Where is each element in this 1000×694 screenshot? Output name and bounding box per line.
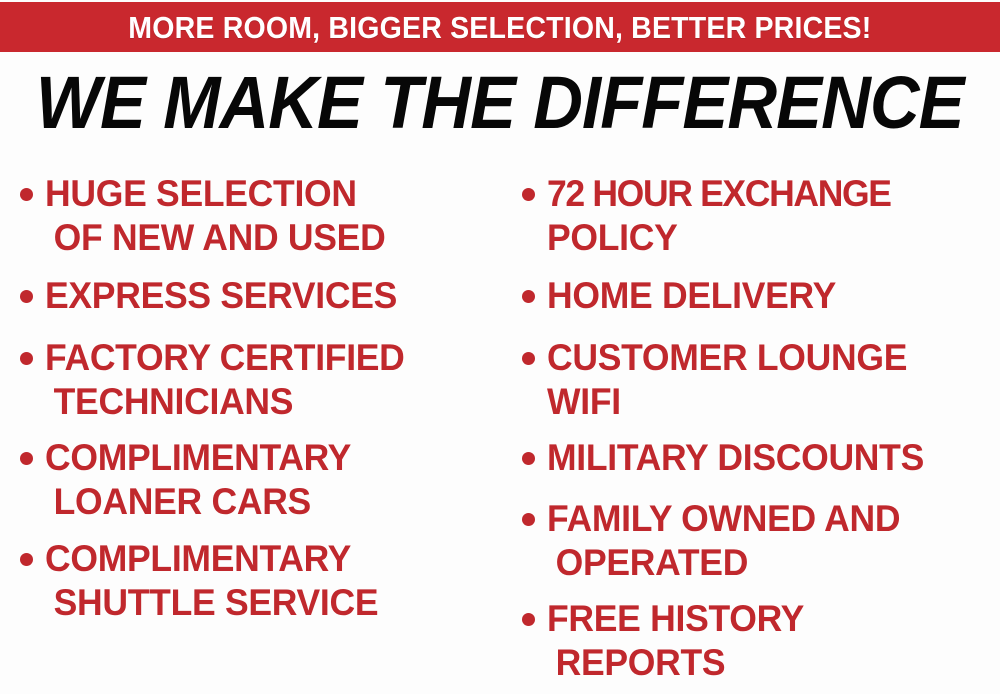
header-banner-text: MORE ROOM, BIGGER SELECTION, BETTER PRIC…: [128, 12, 871, 43]
bullet-dot-icon: [522, 188, 535, 201]
list-item-line-1: HUGE SELECTION: [45, 172, 385, 216]
list-item-text: HUGE SELECTION OF NEW AND USED: [45, 172, 400, 260]
bullet-dot-icon: [20, 290, 33, 303]
list-item-text: FREE HISTORY REPORTS: [547, 597, 815, 685]
list-item-line-2: LOANER CARS: [45, 480, 351, 524]
list-item-line-2: REPORTS: [547, 641, 804, 685]
list-item-line-2: WIFI: [547, 380, 907, 424]
list-item-line-2: SHUTTLE SERVICE: [45, 581, 378, 625]
list-item-text: COMPLIMENTARY SHUTTLE SERVICE: [45, 537, 392, 625]
list-item-text: 72 HOUR EXCHANGE POLICY: [547, 172, 905, 260]
list-item: COMPLIMENTARY SHUTTLE SERVICE: [8, 537, 392, 625]
bullet-dot-icon: [522, 290, 535, 303]
list-item-text: COMPLIMENTARY LOANER CARS: [45, 436, 364, 524]
list-item: CUSTOMER LOUNGE WIFI: [510, 336, 922, 424]
list-item: 72 HOUR EXCHANGE POLICY: [510, 172, 905, 260]
list-item-line-2: POLICY: [547, 216, 891, 260]
list-item-line-1: MILITARY DISCOUNTS: [547, 436, 924, 480]
list-item: FREE HISTORY REPORTS: [510, 597, 815, 685]
bullet-dot-icon: [20, 553, 33, 566]
list-item-text: FACTORY CERTIFIED TECHNICIANS: [45, 336, 420, 424]
benefits-column-right: 72 HOUR EXCHANGE POLICY HOME DELIVERY CU…: [510, 162, 1000, 694]
list-item: MILITARY DISCOUNTS: [510, 436, 940, 480]
list-item-line-1: FAMILY OWNED AND: [547, 497, 900, 541]
page-title-text: WE MAKE THE DIFFERENCE: [36, 66, 964, 140]
list-item: EXPRESS SERVICES: [8, 274, 412, 318]
list-item-line-1: COMPLIMENTARY: [45, 537, 378, 581]
header-banner: MORE ROOM, BIGGER SELECTION, BETTER PRIC…: [0, 2, 1000, 52]
list-item-text: HOME DELIVERY: [547, 274, 848, 318]
bullet-dot-icon: [522, 513, 535, 526]
list-item-text: MILITARY DISCOUNTS: [547, 436, 940, 480]
list-item-line-2: OPERATED: [547, 541, 900, 585]
bullet-dot-icon: [522, 352, 535, 365]
list-item-text: EXPRESS SERVICES: [45, 274, 412, 318]
list-item: FAMILY OWNED AND OPERATED: [510, 497, 915, 585]
list-item-line-1: CUSTOMER LOUNGE: [547, 336, 907, 380]
bullet-dot-icon: [522, 613, 535, 626]
list-item-text: FAMILY OWNED AND OPERATED: [547, 497, 915, 585]
page-title: WE MAKE THE DIFFERENCE: [0, 66, 1000, 140]
bullet-dot-icon: [20, 452, 33, 465]
list-item-text: CUSTOMER LOUNGE WIFI: [547, 336, 922, 424]
list-item-line-1: FACTORY CERTIFIED: [45, 336, 405, 380]
list-item-line-2: TECHNICIANS: [45, 380, 405, 424]
bullet-dot-icon: [522, 452, 535, 465]
benefits-columns: HUGE SELECTION OF NEW AND USED EXPRESS S…: [0, 162, 1000, 694]
list-item: HUGE SELECTION OF NEW AND USED: [8, 172, 400, 260]
list-item: FACTORY CERTIFIED TECHNICIANS: [8, 336, 420, 424]
bullet-dot-icon: [20, 188, 33, 201]
list-item-line-1: COMPLIMENTARY: [45, 436, 351, 480]
bullet-dot-icon: [20, 352, 33, 365]
list-item-line-1: FREE HISTORY: [547, 597, 804, 641]
promotional-poster: MORE ROOM, BIGGER SELECTION, BETTER PRIC…: [0, 0, 1000, 694]
benefits-column-left: HUGE SELECTION OF NEW AND USED EXPRESS S…: [8, 162, 500, 694]
list-item: COMPLIMENTARY LOANER CARS: [8, 436, 364, 524]
list-item-line-2: OF NEW AND USED: [45, 216, 385, 260]
list-item-line-1: EXPRESS SERVICES: [45, 274, 397, 318]
list-item-line-1: 72 HOUR EXCHANGE: [547, 172, 891, 216]
list-item-line-1: HOME DELIVERY: [547, 274, 836, 318]
list-item: HOME DELIVERY: [510, 274, 848, 318]
